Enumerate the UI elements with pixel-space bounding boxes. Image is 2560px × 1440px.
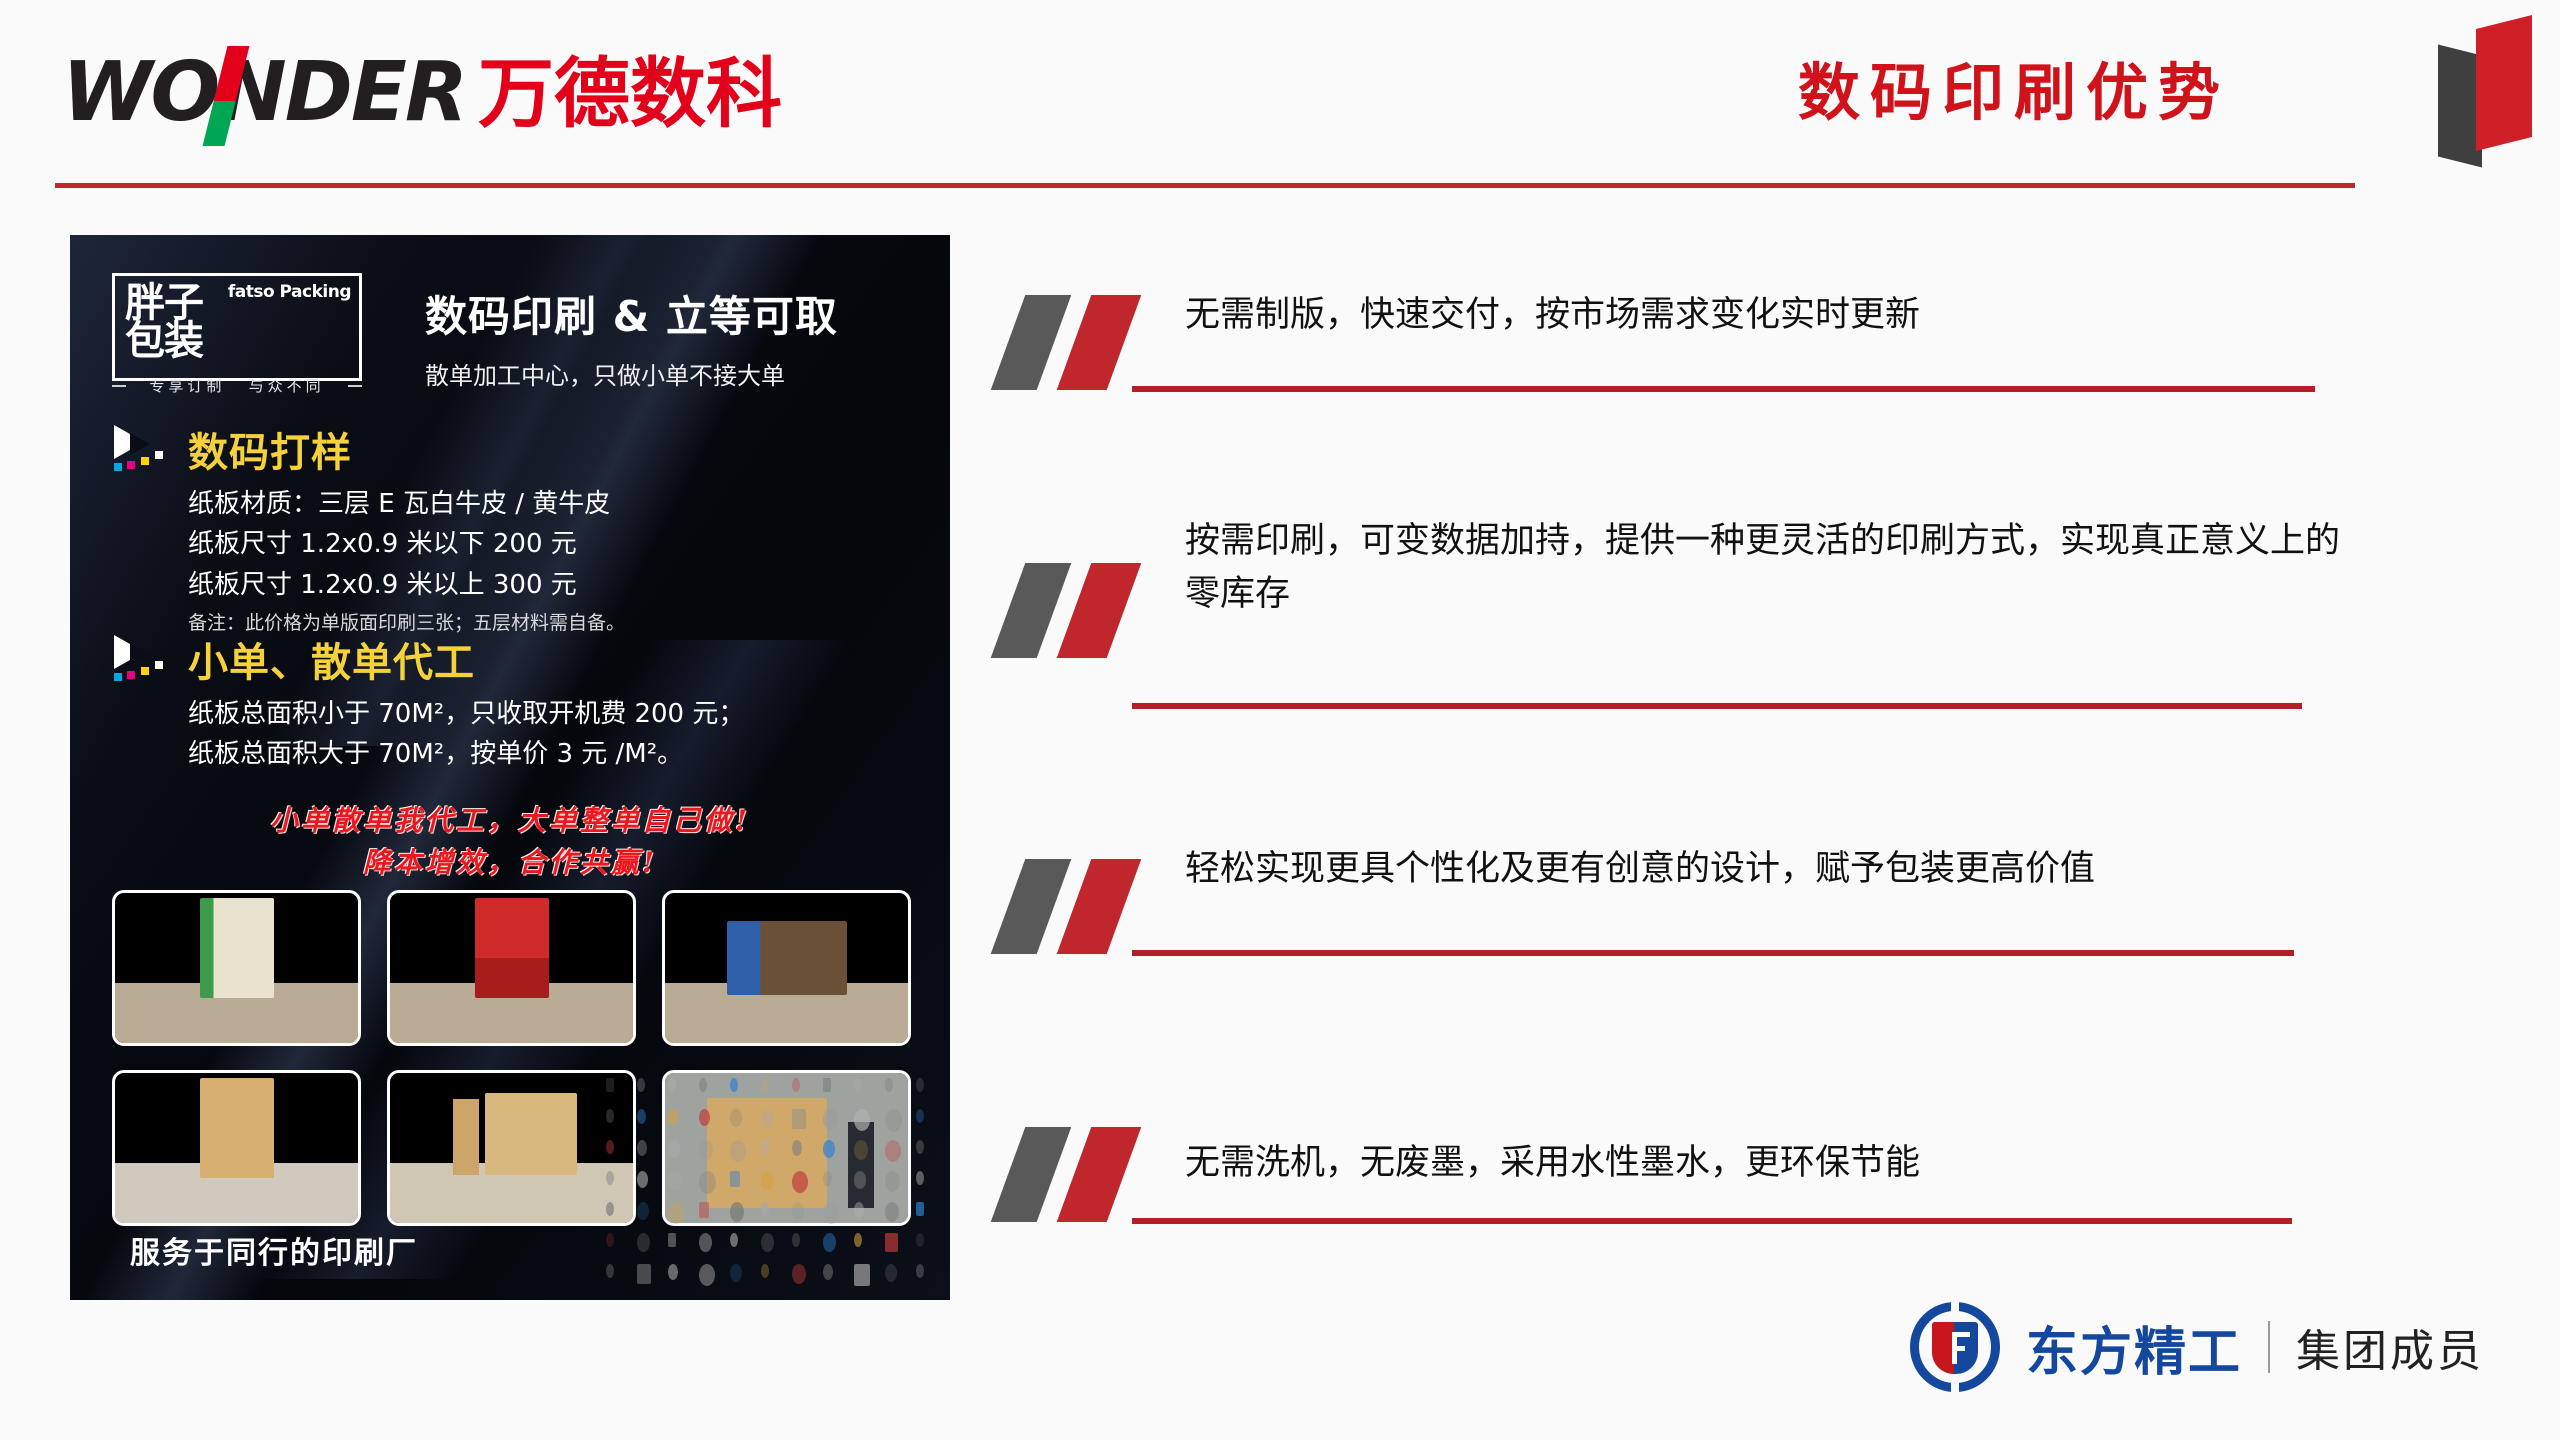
bullet-marker-red bbox=[1057, 859, 1142, 954]
section-title-row: 数码打样 bbox=[112, 420, 912, 478]
section-title-row: 小单、散单代工 bbox=[112, 630, 912, 688]
logo-wordmark-latin: WONDER bbox=[62, 52, 466, 134]
dongfang-shield-icon bbox=[1910, 1302, 2000, 1392]
poster-headline-block: 数码印刷 & 立等可取 散单加工中心，只做小单不接大单 bbox=[425, 283, 925, 391]
header-divider bbox=[55, 183, 2355, 188]
bullet-marker-red bbox=[1057, 1127, 1142, 1222]
section-title-text: 数码打样 bbox=[188, 420, 352, 478]
footer-member-label: 集团成员 bbox=[2296, 1315, 2484, 1379]
page-title: 数码印刷优势 bbox=[1798, 42, 2230, 132]
slide-root: WONDER 万德数科 数码印刷优势 胖子 包装 fatso Packing 专… bbox=[0, 0, 2560, 1440]
bullet-marker-gray bbox=[991, 563, 1072, 658]
poster-subline: 散单加工中心，只做小单不接大单 bbox=[425, 356, 925, 391]
poster-slogan-line2: 降本增效，合作共赢! bbox=[70, 842, 950, 884]
advantage-text: 无需洗机，无废墨，采用水性墨水，更环保节能 bbox=[1185, 1137, 2365, 1190]
logo-letter-n-accent: N bbox=[218, 52, 285, 134]
tagline-bar-left bbox=[112, 385, 126, 387]
bullet-marker-red bbox=[1057, 295, 1142, 390]
fatso-logo-cn-line2: 包装 bbox=[125, 320, 203, 362]
bullet-marker-icon bbox=[1000, 1127, 1160, 1222]
section-title-text: 小单、散单代工 bbox=[188, 630, 475, 688]
advantage-underline bbox=[1132, 703, 2302, 709]
section-lines: 纸板材质：三层 E 瓦白牛皮 / 黄牛皮 纸板尺寸 1.2x0.9 米以下 20… bbox=[188, 484, 912, 638]
logo-letters-der: DER bbox=[285, 45, 466, 140]
footer-divider bbox=[2268, 1321, 2270, 1373]
bullet-marker-icon bbox=[1000, 859, 1160, 954]
fatso-tagline-left: 专享订制 bbox=[149, 375, 225, 396]
advantage-underline bbox=[1132, 386, 2315, 392]
corner-decoration-icon bbox=[2432, 10, 2542, 170]
advantage-text: 轻松实现更具个性化及更有创意的设计，赋予包装更高价值 bbox=[1185, 843, 2365, 896]
section-line: 纸板总面积小于 70M²，只收取开机费 200 元； bbox=[188, 694, 912, 734]
product-photo bbox=[112, 1070, 361, 1226]
advantage-text: 按需印刷，可变数据加持，提供一种更灵活的印刷方式，实现真正意义上的零库存 bbox=[1185, 515, 2365, 621]
section-line: 纸板尺寸 1.2x0.9 米以下 200 元 bbox=[188, 524, 912, 564]
fatso-tagline-right: 与众不同 bbox=[249, 375, 325, 396]
bullet-marker-red bbox=[1057, 563, 1142, 658]
poster-slogan-line1: 小单散单我代工，大单整单自己做! bbox=[70, 800, 950, 842]
product-photo bbox=[662, 890, 911, 1046]
fatso-logo-box: 胖子 包装 fatso Packing bbox=[112, 273, 362, 381]
poster-section-proofing: 数码打样 纸板材质：三层 E 瓦白牛皮 / 黄牛皮 纸板尺寸 1.2x0.9 米… bbox=[112, 420, 912, 638]
section-line: 纸板尺寸 1.2x0.9 米以上 300 元 bbox=[188, 565, 912, 605]
fatso-logo-cn: 胖子 包装 bbox=[125, 282, 203, 362]
advantage-text: 无需制版，快速交付，按市场需求变化实时更新 bbox=[1185, 289, 2365, 342]
promo-poster: 胖子 包装 fatso Packing 专享订制 与众不同 数码印刷 & 立等可… bbox=[70, 235, 950, 1300]
corner-red-shape bbox=[2476, 15, 2532, 151]
product-photo bbox=[387, 890, 636, 1046]
advantage-underline bbox=[1132, 950, 2294, 956]
company-logo: WONDER 万德数科 bbox=[62, 52, 782, 134]
poster-section-small-orders: 小单、散单代工 纸板总面积小于 70M²，只收取开机费 200 元； 纸板总面积… bbox=[112, 630, 912, 775]
section-line: 纸板总面积大于 70M²，按单价 3 元 /M²。 bbox=[188, 734, 912, 774]
bullet-marker-gray bbox=[991, 1127, 1072, 1222]
bullet-marker-icon bbox=[1000, 295, 1160, 390]
logo-wordmark-cn: 万德数科 bbox=[478, 56, 782, 132]
section-line: 纸板材质：三层 E 瓦白牛皮 / 黄牛皮 bbox=[188, 484, 912, 524]
poster-headline: 数码印刷 & 立等可取 bbox=[425, 283, 925, 344]
poster-footer-text: 服务于同行的印刷厂 bbox=[130, 1228, 418, 1272]
advantage-underline bbox=[1132, 1218, 2292, 1224]
bullet-marker-gray bbox=[991, 295, 1072, 390]
arrow-chevron-icon bbox=[112, 423, 174, 475]
dot-pattern-decoration bbox=[600, 1070, 950, 1300]
fatso-logo-en: fatso Packing bbox=[228, 282, 351, 302]
section-lines: 纸板总面积小于 70M²，只收取开机费 200 元； 纸板总面积大于 70M²，… bbox=[188, 694, 912, 775]
poster-slogan: 小单散单我代工，大单整单自己做! 降本增效，合作共赢! bbox=[70, 800, 950, 884]
product-photo bbox=[112, 890, 361, 1046]
bullet-marker-icon bbox=[1000, 563, 1160, 658]
footer-company-name: 东方精工 bbox=[2026, 1310, 2242, 1385]
product-photo bbox=[387, 1070, 636, 1226]
arrow-chevron-icon bbox=[112, 633, 174, 685]
fatso-logo-taglines: 专享订制 与众不同 bbox=[112, 375, 362, 396]
group-footer-logo: 东方精工 集团成员 bbox=[1910, 1302, 2484, 1392]
photo-row bbox=[112, 890, 912, 1046]
logo-letters-wo: WO bbox=[62, 45, 218, 140]
bullet-marker-gray bbox=[991, 859, 1072, 954]
tagline-bar-right bbox=[348, 385, 362, 387]
